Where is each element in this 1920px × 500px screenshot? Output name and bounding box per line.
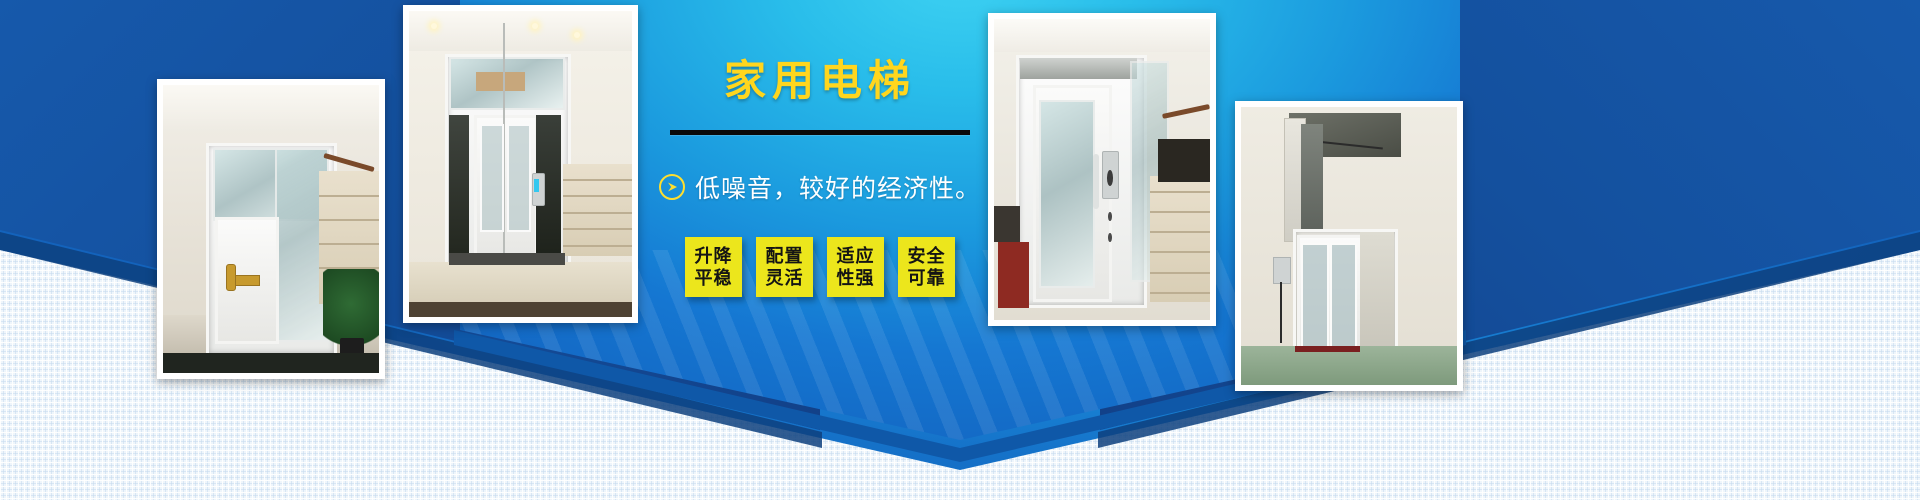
feature-tag-2-line2: 灵活 bbox=[766, 267, 804, 290]
feature-tag-4[interactable]: 安全 可靠 bbox=[898, 237, 955, 297]
subtitle-text: 低噪音，较好的经济性。 bbox=[695, 169, 981, 205]
title-underline bbox=[670, 130, 970, 135]
subtitle-row: 低噪音，较好的经济性。 bbox=[655, 169, 985, 205]
feature-tag-1-line1: 升降 bbox=[695, 245, 733, 268]
banner-text-block: 家用电梯 低噪音，较好的经济性。 升降 平稳 配置 灵活 适应 性强 bbox=[655, 60, 985, 297]
feature-tag-1-line2: 平稳 bbox=[695, 267, 733, 290]
feature-tag-3[interactable]: 适应 性强 bbox=[827, 237, 884, 297]
feature-tag-2-line1: 配置 bbox=[766, 245, 804, 268]
home-elevator-banner: 家用电梯 低噪音，较好的经济性。 升降 平稳 配置 灵活 适应 性强 bbox=[0, 0, 1920, 500]
feature-tag-3-line1: 适应 bbox=[837, 245, 875, 268]
circled-play-arrow-icon bbox=[659, 174, 685, 200]
photo-elevator-beside-staircase bbox=[988, 13, 1216, 326]
feature-tag-list: 升降 平稳 配置 灵活 适应 性强 安全 可靠 bbox=[655, 237, 985, 297]
feature-tag-2[interactable]: 配置 灵活 bbox=[756, 237, 813, 297]
feature-tag-1[interactable]: 升降 平稳 bbox=[685, 237, 742, 297]
photo-elevator-hallway-stairs bbox=[403, 5, 638, 323]
feature-tag-4-line1: 安全 bbox=[908, 245, 946, 268]
photo-elevator-installation bbox=[1235, 101, 1463, 391]
feature-tag-3-line2: 性强 bbox=[837, 267, 875, 290]
photo-glass-elevator-with-plant bbox=[157, 79, 385, 379]
page-title: 家用电梯 bbox=[655, 60, 985, 102]
feature-tag-4-line2: 可靠 bbox=[908, 267, 946, 290]
